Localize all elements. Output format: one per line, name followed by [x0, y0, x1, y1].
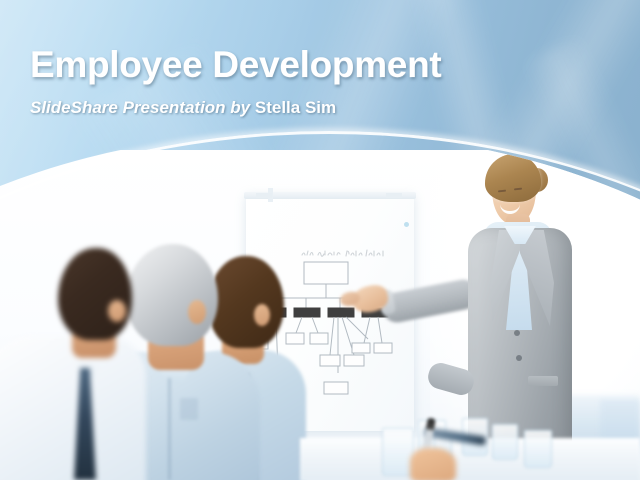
jacket-pocket: [528, 376, 558, 386]
audience-head: [208, 256, 284, 348]
page-subtitle: SlideShare Presentation by Stella Sim: [30, 98, 336, 118]
subtitle-source: SlideShare Presentation by: [30, 98, 250, 117]
audience-body: [0, 336, 146, 480]
hand-holding-pen: [410, 448, 456, 480]
shirt-seam: [168, 378, 171, 480]
page-title: Employee Development: [30, 44, 441, 86]
audience-ear: [188, 300, 206, 324]
presenter-hair: [485, 154, 541, 202]
subtitle-author: Stella Sim: [255, 98, 336, 117]
drinking-glass: [492, 424, 518, 460]
shirt-pocket: [180, 398, 198, 420]
audience-head: [126, 244, 218, 346]
audience-head: [58, 248, 132, 340]
jacket-button: [516, 355, 522, 361]
audience-ear: [254, 304, 270, 326]
audience-ear: [108, 300, 126, 322]
slide-canvas: Employee Development SlideShare Presenta…: [0, 0, 640, 480]
drinking-glass: [524, 430, 552, 468]
jacket-button: [514, 330, 520, 336]
